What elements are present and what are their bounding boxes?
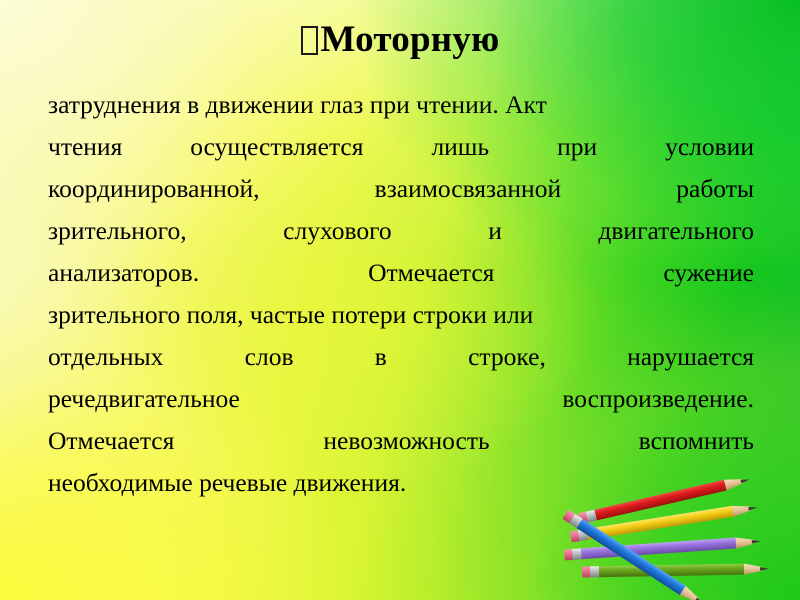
- body-line-text: зрительного поля, частые потери строки и…: [48, 300, 533, 329]
- pencil-eraser: [582, 566, 591, 577]
- body-line: зрительного поля, частые потери строки и…: [48, 294, 754, 336]
- body-word: слов: [245, 336, 294, 378]
- slide-canvas: Моторную затруднения в движении глаз при…: [0, 0, 800, 600]
- body-word: чтения: [48, 126, 122, 168]
- body-word: Отмечается: [368, 252, 494, 294]
- body-word: невозможность: [323, 420, 489, 462]
- colored-pencils-illustration: [548, 452, 800, 600]
- body-word: Отмечается: [48, 420, 174, 462]
- pencil-wood-cone: [736, 536, 755, 548]
- body-word: строке,: [468, 336, 546, 378]
- pencil-wood-cone: [744, 563, 762, 574]
- body-word: слухового: [283, 210, 392, 252]
- body-word: и: [488, 210, 502, 252]
- body-word: нарушается: [627, 336, 754, 378]
- pencil-barrel: [599, 564, 744, 578]
- pencil-wood-cone: [732, 503, 751, 517]
- body-word: анализаторов.: [48, 252, 199, 294]
- purple-pencil: [564, 536, 761, 561]
- body-word: речедвигательное: [48, 378, 240, 420]
- body-word: сужение: [663, 252, 754, 294]
- body-word: при: [557, 126, 597, 168]
- body-word: отдельных: [48, 336, 163, 378]
- body-word: лишь: [431, 126, 489, 168]
- body-line-text: необходимые речевые движения.: [48, 468, 406, 497]
- body-line: речедвигательное воспроизведение.: [48, 378, 754, 420]
- body-line: зрительного, слухового и двигательного: [48, 210, 754, 252]
- body-line: затруднения в движении глаз при чтении. …: [48, 84, 754, 126]
- pencil-graphite-tip: [748, 506, 757, 511]
- body-line: координированной, взаимосвязанной работы: [48, 168, 754, 210]
- body-word: в: [375, 336, 387, 378]
- slide-title-text: Моторную: [321, 19, 500, 60]
- body-word: условии: [665, 126, 754, 168]
- body-line: анализаторов. Отмечается сужение: [48, 252, 754, 294]
- pencil-ferrule: [590, 566, 599, 577]
- green-pencil: [582, 563, 769, 577]
- pencil-wood-cone: [724, 476, 744, 491]
- body-word: двигательного: [598, 210, 754, 252]
- body-line-text: затруднения в движении глаз при чтении. …: [48, 90, 547, 119]
- body-line: чтения осуществляется лишь при условии: [48, 126, 754, 168]
- pencil-graphite-tip: [760, 567, 769, 571]
- pencil-graphite-tip: [740, 478, 750, 484]
- body-line: отдельных слов в строке, нарушается: [48, 336, 754, 378]
- slide-body-text: затруднения в движении глаз при чтении. …: [48, 84, 754, 504]
- body-word: зрительного,: [48, 210, 187, 252]
- body-word: воспроизведение.: [562, 378, 754, 420]
- body-word: осуществляется: [190, 126, 363, 168]
- missing-glyph-icon: [301, 26, 318, 55]
- slide-title: Моторную: [0, 18, 800, 62]
- pencil-ferrule: [572, 548, 582, 560]
- body-word: взаимосвязанной: [375, 168, 561, 210]
- body-word: координированной,: [48, 168, 260, 210]
- body-word: работы: [676, 168, 754, 210]
